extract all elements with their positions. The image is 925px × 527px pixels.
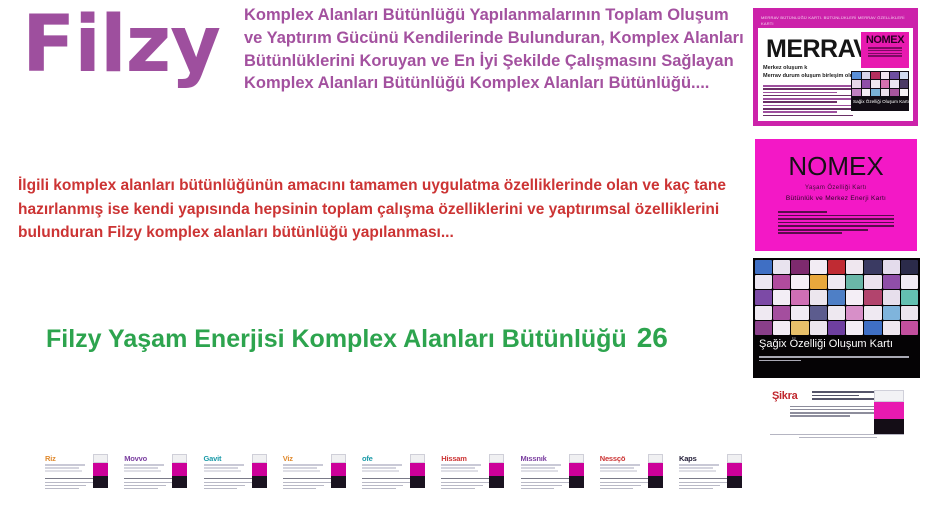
merrav-subtitle-2: Merrav durum oluşum birleşim oluşumu (763, 73, 861, 79)
nomex-logo: NOMEX (755, 151, 917, 182)
thumbnail-body-lines (521, 482, 569, 494)
nomex-body-lines (778, 211, 894, 234)
page-root: Filzy Komplex Alanları Bütünlüğü Yapılan… (0, 0, 925, 527)
thumbnail-title: Nessçö (600, 454, 625, 463)
merrav-inset-nomex: NOMEX (861, 32, 909, 68)
sikra-title: Şikra (772, 390, 797, 402)
thumbnail-title: Movvo (124, 454, 147, 463)
thumbnail-divider (362, 478, 414, 479)
thumbnail-divider (124, 478, 176, 479)
thumbnail-rule (124, 467, 158, 469)
thumbnail-rule (362, 467, 396, 469)
thumbnail-card[interactable]: Nessçö (599, 452, 665, 498)
brand-wordmark: Filzy (22, 6, 220, 84)
sidebar-card-merrav[interactable]: MERRAV BÜTÜNLÜĞÜ KARTI. BÜTÜNLÜKLERİ MER… (753, 8, 918, 126)
sidebar-card-sagix[interactable]: Şağix Özelliği Oluşum Kartı (753, 258, 920, 378)
thumbnail-body-lines (441, 482, 489, 494)
nomex-subtitle-1: Yaşam Özelliği Kartı (755, 185, 917, 191)
thumbnail-card[interactable]: Riz (44, 452, 110, 498)
main-content-column: Filzy Komplex Alanları Bütünlüğü Yapılan… (0, 0, 745, 527)
thumbnail-divider (679, 478, 731, 479)
thumbnail-rule (600, 467, 634, 469)
thumbnail-body-lines (283, 482, 331, 494)
section-heading-label: Filzy Yaşam Enerjisi Komplex Alanları Bü… (46, 325, 627, 353)
sidebar-card-column: MERRAV BÜTÜNLÜĞÜ KARTI. BÜTÜNLÜKLERİ MER… (748, 0, 925, 527)
thumbnail-rule (679, 470, 716, 472)
thumbnail-card[interactable]: Hissam (440, 452, 506, 498)
thumbnail-divider (441, 478, 493, 479)
section-count: 26 (637, 322, 668, 353)
collage-grid (852, 72, 908, 96)
thumbnail-strip: Riz Movvo Gavit (44, 452, 744, 508)
merrav-inset-collage: Sağix Özelliği Oluşum Kartı (851, 71, 909, 111)
thumbnail-divider (600, 478, 652, 479)
thumbnail-body-lines (124, 482, 172, 494)
thumbnail-divider (521, 478, 573, 479)
thumbnail-body-lines (204, 482, 252, 494)
thumbnail-rule (679, 467, 713, 469)
thumbnail-card[interactable]: Kaps (678, 452, 744, 498)
thumbnail-title: ofe (362, 454, 373, 463)
thumbnail-preview-icon (331, 454, 346, 488)
thumbnail-title: Mıssnık (521, 454, 547, 463)
thumbnail-rule (283, 470, 320, 472)
thumbnail-preview-icon (172, 454, 187, 488)
merrav-banner-text: MERRAV BÜTÜNLÜĞÜ KARTI. BÜTÜNLÜKLERİ MER… (758, 13, 913, 28)
sikra-footer-lines (770, 434, 904, 440)
merrav-subtitle-1: Merkez oluşum k (763, 65, 807, 71)
sikra-preview-icon (874, 390, 904, 435)
thumbnail-preview-icon (93, 454, 108, 488)
thumbnail-title: Gavit (204, 454, 222, 463)
thumbnail-rule (362, 464, 402, 466)
thumbnail-rule (441, 470, 478, 472)
thumbnail-rule (204, 464, 244, 466)
thumbnail-rule (441, 467, 475, 469)
thumbnail-rule (204, 470, 241, 472)
thumbnail-preview-icon (489, 454, 504, 488)
section-heading: Filzy Yaşam Enerjisi Komplex Alanları Bü… (46, 318, 736, 358)
merrav-logo: MERRAV (766, 35, 869, 64)
sidebar-card-nomex[interactable]: NOMEX Yaşam Özelliği Kartı Bütünlük ve M… (755, 139, 917, 251)
sagix-caption: Şağix Özelliği Oluşum Kartı (759, 338, 893, 350)
thumbnail-rule (45, 470, 82, 472)
thumbnail-rule (124, 464, 164, 466)
thumbnail-preview-icon (569, 454, 584, 488)
sikra-body-lines (790, 406, 874, 418)
nomex-subtitle-2: Bütünlük ve Merkez Enerji Kartı (755, 195, 917, 202)
thumbnail-preview-icon (648, 454, 663, 488)
thumbnail-title: Viz (283, 454, 293, 463)
thumbnail-preview-icon (727, 454, 742, 488)
thumbnail-rule (283, 464, 323, 466)
thumbnail-divider (283, 478, 335, 479)
thumbnail-card[interactable]: Mıssnık (520, 452, 586, 498)
thumbnail-body-lines (362, 482, 410, 494)
thumbnail-body-lines (45, 482, 93, 494)
sidebar-card-sikra[interactable]: Şikra (770, 388, 906, 440)
thumbnail-card[interactable]: Gavit (203, 452, 269, 498)
intro-paragraph: İlgili komplex alanları bütünlüğünün ama… (18, 174, 728, 245)
sagix-body-lines (759, 356, 909, 363)
thumbnail-rule (679, 464, 719, 466)
thumbnail-divider (204, 478, 256, 479)
thumbnail-title: Kaps (679, 454, 697, 463)
thumbnail-rule (124, 470, 161, 472)
thumbnail-rule (521, 470, 558, 472)
thumbnail-preview-icon (410, 454, 425, 488)
sikra-head-lines (812, 391, 874, 402)
thumbnail-rule (521, 464, 561, 466)
sagix-collage (755, 260, 918, 335)
thumbnail-rule (45, 467, 79, 469)
thumbnail-card[interactable]: ofe (361, 452, 427, 498)
thumbnail-rule (45, 464, 85, 466)
thumbnail-title: Riz (45, 454, 56, 463)
merrav-inset-logo: NOMEX (861, 34, 909, 46)
merrav-body-lines (763, 85, 853, 118)
headline-text: Komplex Alanları Bütünlüğü Yapılanmaları… (244, 4, 744, 95)
thumbnail-card[interactable]: Viz (282, 452, 348, 498)
thumbnail-rule (600, 470, 637, 472)
thumbnail-rule (521, 467, 555, 469)
thumbnail-card[interactable]: Movvo (123, 452, 189, 498)
thumbnail-body-lines (600, 482, 648, 494)
thumbnail-preview-icon (252, 454, 267, 488)
thumbnail-divider (45, 478, 97, 479)
thumbnail-body-lines (679, 482, 727, 494)
thumbnail-title: Hissam (441, 454, 466, 463)
thumbnail-rule (204, 467, 238, 469)
thumbnail-rule (362, 470, 399, 472)
merrav-inset-caption: Sağix Özelliği Oluşum Kartı (853, 99, 909, 104)
thumbnail-rule (600, 464, 640, 466)
thumbnail-rule (283, 467, 317, 469)
thumbnail-rule (441, 464, 481, 466)
